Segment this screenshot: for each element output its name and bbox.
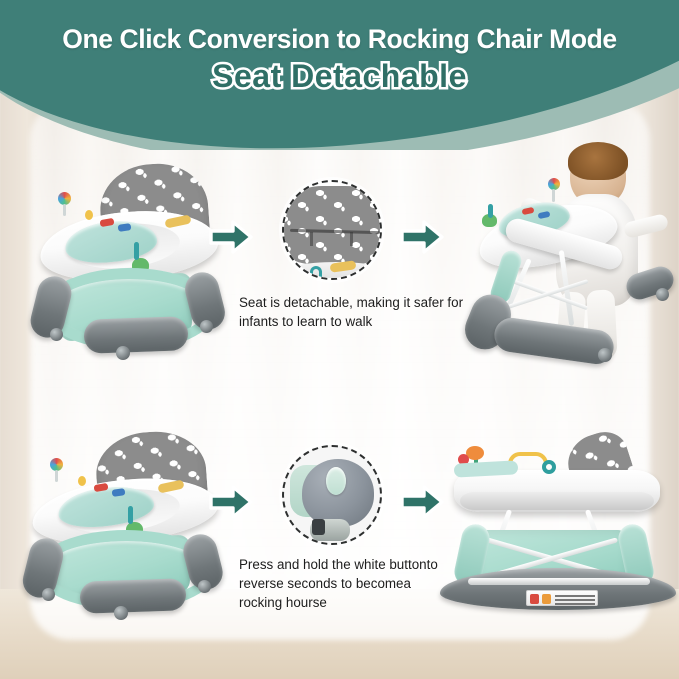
caption-row-1: Seat is detachable, making it safer for … bbox=[239, 293, 467, 331]
toy-teal-hook bbox=[134, 242, 139, 260]
callout-strap-right bbox=[350, 232, 353, 246]
walker2-wheel-rear bbox=[114, 606, 128, 620]
rocker-warning-sticker bbox=[526, 590, 598, 606]
walker2-wheel-front-left bbox=[42, 588, 55, 601]
toy2-spinner-stem bbox=[55, 470, 58, 482]
walker2-bumper-front bbox=[79, 578, 186, 614]
walker2-wheel-front-right bbox=[198, 580, 211, 593]
header-banner: One Click Conversion to Rocking Chair Mo… bbox=[0, 0, 679, 150]
toy-yellow-bead bbox=[85, 210, 93, 220]
callout-strap-left bbox=[310, 232, 313, 246]
arrow-right-4 bbox=[399, 483, 445, 521]
toy-spinner-stem-2 bbox=[552, 189, 555, 202]
baby-walker-rocking-mode bbox=[440, 432, 676, 630]
rocker-tray-lip bbox=[460, 492, 654, 510]
white-release-button bbox=[326, 467, 346, 495]
callout-white-button bbox=[282, 445, 382, 545]
sticker-icon-red bbox=[530, 594, 539, 604]
walker-wheel-a bbox=[598, 348, 612, 362]
arrow-right-2 bbox=[399, 218, 445, 256]
toy-teal-hook-2 bbox=[488, 204, 493, 218]
baby-standing-in-walker bbox=[460, 142, 675, 367]
page-title-line1: One Click Conversion to Rocking Chair Mo… bbox=[0, 24, 679, 55]
baby-walker-with-seat bbox=[28, 160, 228, 365]
toy2-teal-hook bbox=[128, 506, 133, 524]
walker-bumper-front bbox=[83, 316, 188, 354]
callout-seat-fabric bbox=[282, 180, 382, 280]
toy-spinner-stem bbox=[63, 204, 66, 216]
arrow-right-1 bbox=[208, 218, 254, 256]
rocker-toy-teal-ring bbox=[542, 460, 556, 474]
knob-wheel-dark-slot bbox=[312, 519, 325, 535]
callout-fabric-texture bbox=[282, 186, 382, 264]
page-title-line2: Seat Detachable bbox=[0, 58, 679, 95]
rocker-metal-rail bbox=[468, 578, 650, 585]
arrow-right-3 bbox=[208, 483, 254, 521]
walker-wheel-b bbox=[656, 288, 669, 301]
toy2-yellow-bead bbox=[78, 476, 86, 486]
product-infographic: One Click Conversion to Rocking Chair Mo… bbox=[0, 0, 679, 679]
walker-wheel-front-left bbox=[50, 328, 63, 341]
baby-walker-walking-mode bbox=[22, 430, 232, 625]
sticker-text-lines bbox=[555, 595, 595, 597]
walker-wheel-rear bbox=[116, 346, 130, 360]
sticker-icon-orange bbox=[542, 594, 551, 604]
caption-row-2: Press and hold the white buttonto revers… bbox=[239, 555, 451, 612]
walker-wheel-front-right bbox=[200, 320, 213, 333]
callout-toy-hook bbox=[310, 266, 322, 277]
